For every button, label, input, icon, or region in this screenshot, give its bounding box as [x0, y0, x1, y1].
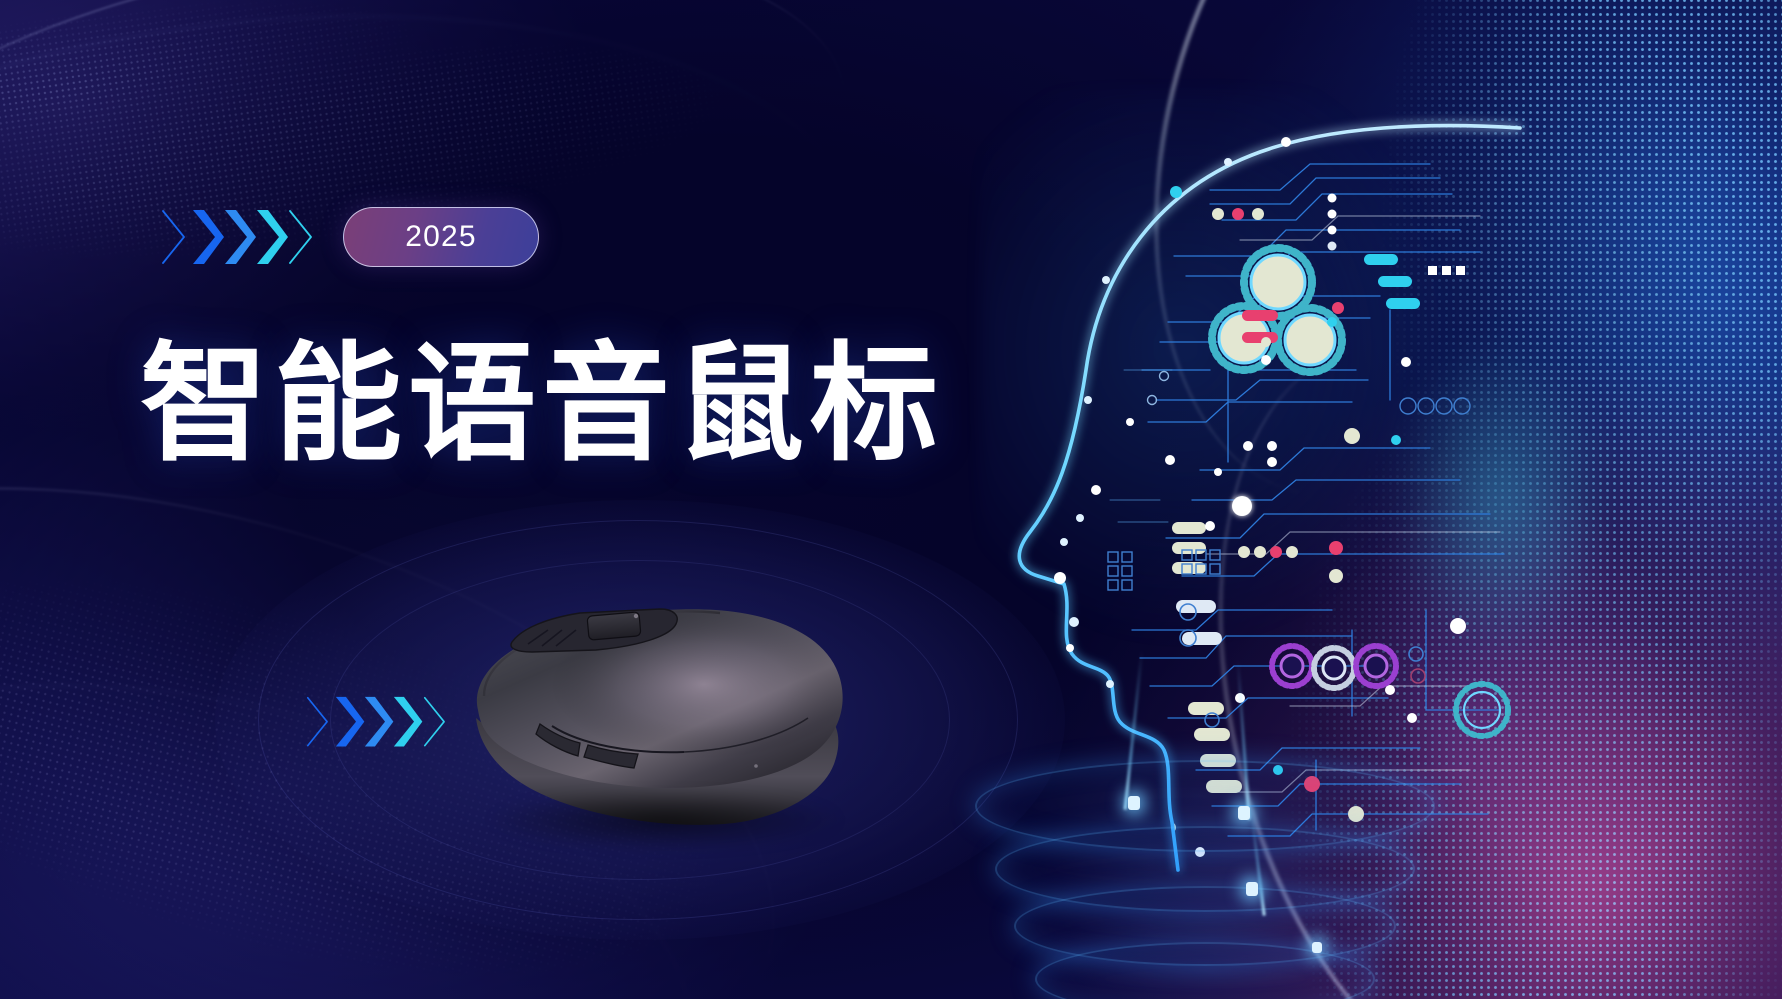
chevron-solid-4	[392, 695, 423, 748]
year-badge-label: 2025	[405, 220, 477, 254]
poster-canvas: 2025 智能语音鼠标	[0, 0, 1782, 999]
mouse-scroll-wheel	[587, 612, 641, 640]
head-profile-outline	[1019, 126, 1520, 870]
year-badge[interactable]: 2025	[343, 207, 539, 267]
chevron-outline-1	[305, 695, 336, 748]
page-title: 智能语音鼠标	[140, 336, 944, 474]
chevron-outline-1	[160, 208, 194, 266]
chevron-outline-5	[287, 208, 321, 266]
mouse-drop-shadow	[490, 790, 840, 850]
head-circuit-svg	[960, 70, 1520, 930]
chevron-arrows-top	[160, 208, 318, 266]
gear-trio-lower	[1272, 646, 1396, 688]
gear-cluster	[1212, 248, 1342, 372]
chevron-solid-3	[363, 695, 394, 748]
chip-rects	[1428, 266, 1465, 275]
wireless-computer-mouse	[470, 600, 860, 850]
chevron-solid-2	[334, 695, 365, 748]
ai-circuit-head	[960, 70, 1520, 930]
chevron-arrows-bottom	[305, 695, 450, 748]
circle-row	[1400, 398, 1470, 414]
chevron-solid-2	[191, 208, 225, 266]
chevron-solid-4	[255, 208, 289, 266]
chevron-solid-3	[223, 208, 257, 266]
chevron-outline-5	[422, 695, 453, 748]
